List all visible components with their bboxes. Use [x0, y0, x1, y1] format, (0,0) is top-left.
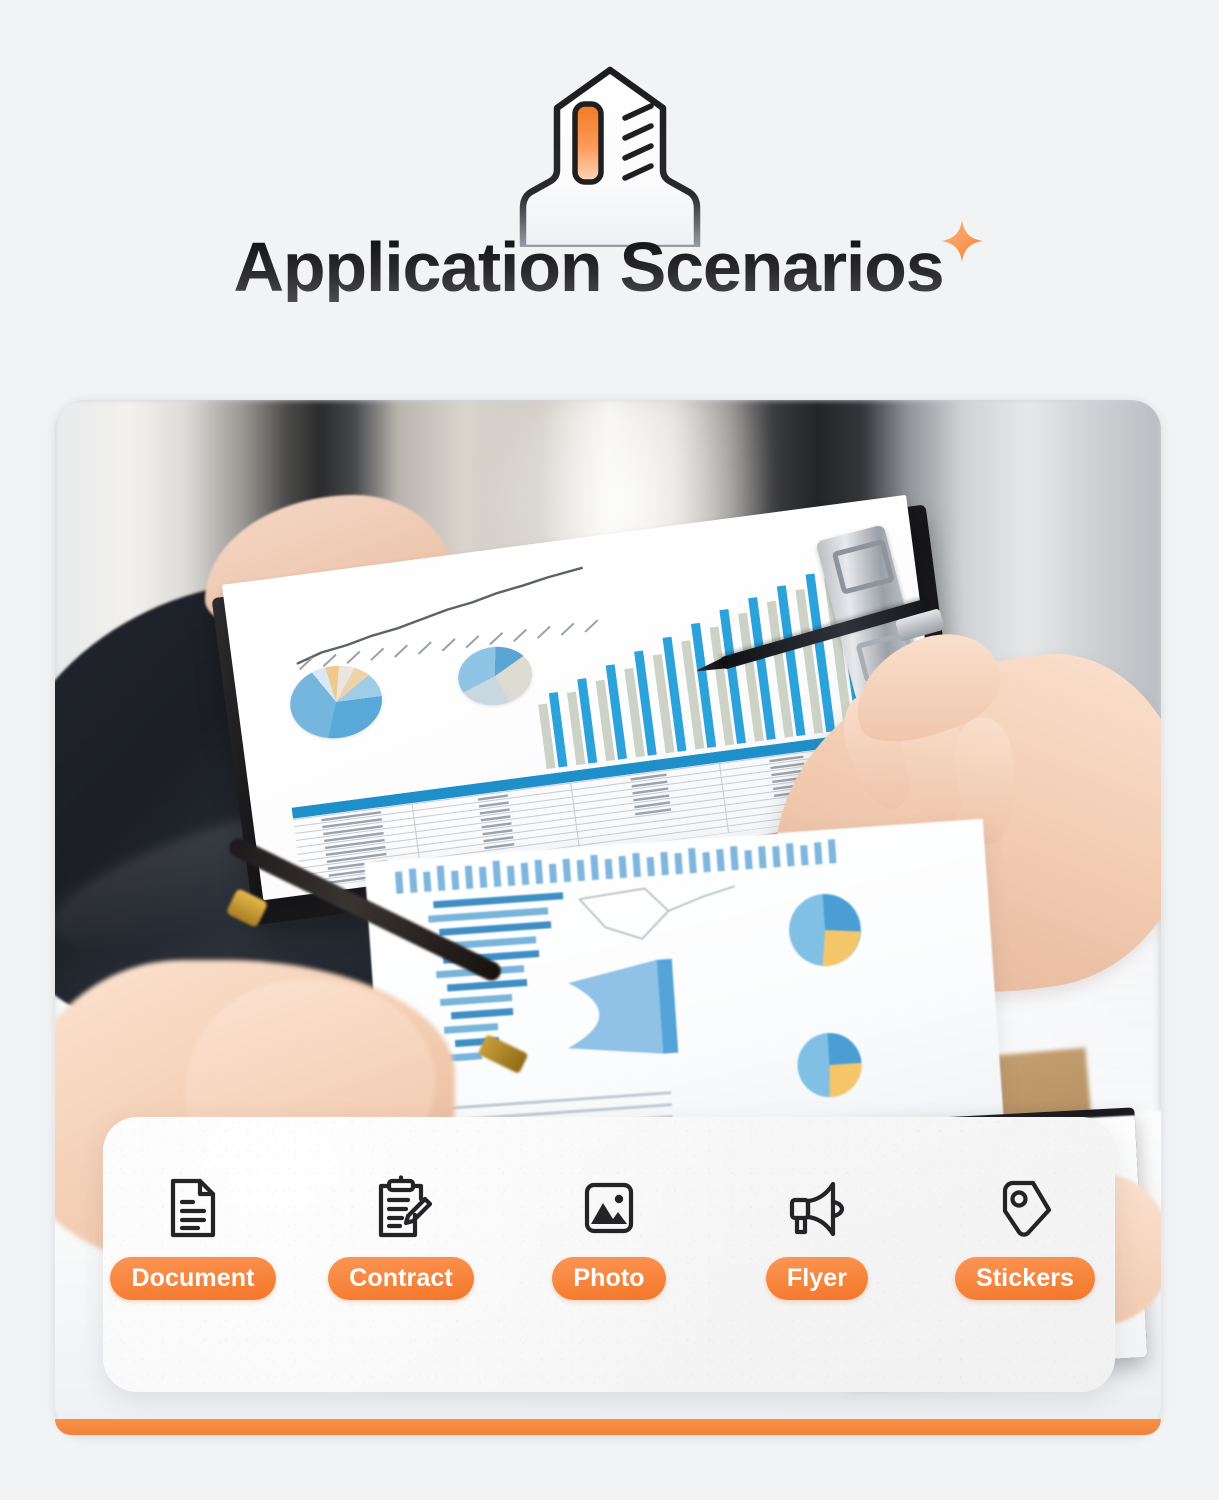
scenario-categories-card: Document Cont	[103, 1117, 1115, 1392]
title-row: Application Scenarios	[0, 232, 1219, 302]
category-pill-photo[interactable]: Photo	[552, 1257, 665, 1300]
megaphone-icon	[784, 1175, 850, 1241]
category-item-flyer[interactable]: Flyer	[731, 1175, 903, 1300]
photo-accent-bar	[55, 1419, 1161, 1435]
page-title: Application Scenarios	[234, 232, 944, 302]
category-item-document[interactable]: Document	[107, 1175, 279, 1300]
image-icon	[576, 1175, 642, 1241]
category-pill-contract[interactable]: Contract	[328, 1257, 474, 1300]
clipboard-pen-icon	[368, 1175, 434, 1241]
sparkle-icon	[939, 218, 985, 264]
document-icon	[160, 1175, 226, 1241]
category-pill-stickers[interactable]: Stickers	[955, 1257, 1095, 1300]
application-scenarios-page: Application Scenarios	[0, 0, 1219, 1500]
category-pill-document[interactable]: Document	[110, 1257, 275, 1300]
category-item-stickers[interactable]: Stickers	[939, 1175, 1111, 1300]
category-item-photo[interactable]: Photo	[523, 1175, 695, 1300]
category-list: Document Cont	[103, 1175, 1115, 1300]
price-tag-icon	[992, 1175, 1058, 1241]
pie-chart-2	[455, 642, 536, 709]
pie-chart-1	[286, 660, 387, 743]
category-item-contract[interactable]: Contract	[315, 1175, 487, 1300]
category-pill-flyer[interactable]: Flyer	[766, 1257, 868, 1300]
page-header: Application Scenarios	[0, 0, 1219, 380]
building-skyscraper-icon	[505, 62, 715, 247]
